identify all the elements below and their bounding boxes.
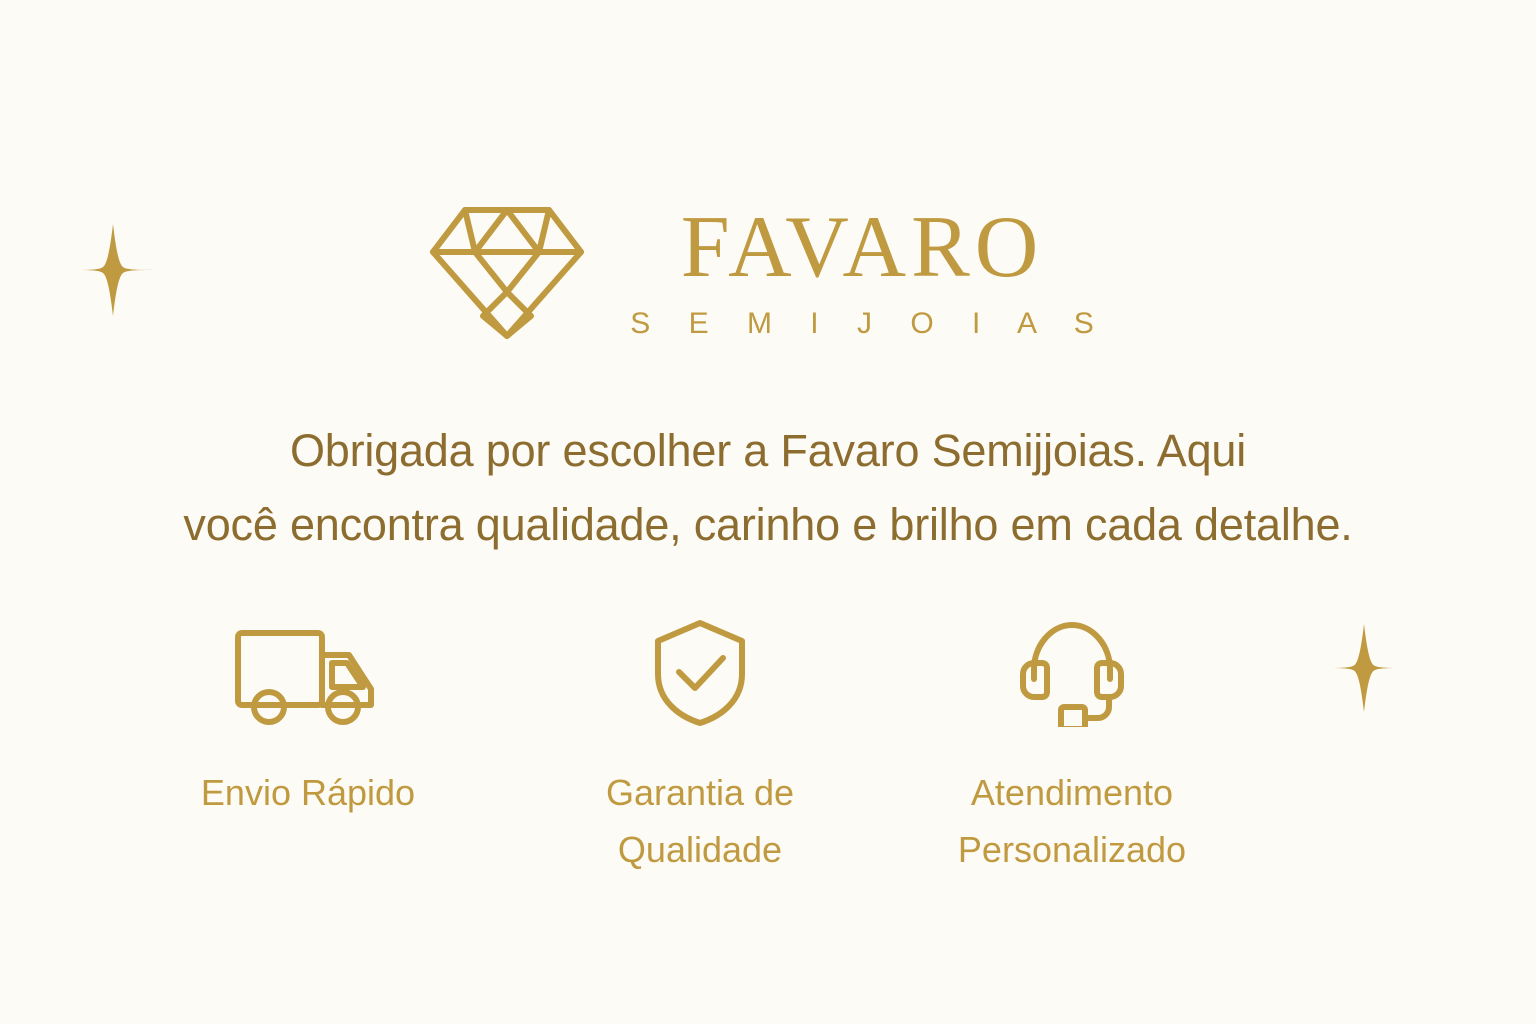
feature-label-line-1: Atendimento [971,772,1173,813]
feature-list: Envio Rápido Garantia de Qualidade [120,618,1300,878]
thank-you-message: Obrigada por escolher a Favaro Semijjoia… [0,414,1536,562]
feature-label: Atendimento Personalizado [958,764,1186,878]
feature-label-line-2: Personalizado [958,829,1186,870]
logo-row: FAVARO S E M I J O I A S [427,196,1108,348]
wordmark-stack: FAVARO S E M I J O I A S [615,203,1108,342]
headset-support-icon [1019,619,1125,727]
feature-garantia-qualidade: Garantia de Qualidade [530,618,870,878]
sparkle-icon [1316,620,1412,716]
promo-card: FAVARO S E M I J O I A S Obrigada por es… [0,0,1536,1024]
brand-subtitle: S E M I J O I A S [630,307,1108,341]
diamond-icon [427,196,587,348]
feature-icon-wrap [1019,618,1125,728]
brand-logo: FAVARO S E M I J O I A S [0,196,1536,348]
shield-check-icon [650,618,750,728]
feature-icon-wrap [650,618,750,728]
message-line-1: Obrigada por escolher a Favaro Semijjoia… [0,414,1536,488]
feature-icon-wrap [233,618,383,728]
feature-label-line-1: Garantia de [606,772,794,813]
delivery-truck-icon [233,621,383,725]
message-line-2: você encontra qualidade, carinho e brilh… [0,488,1536,562]
feature-atendimento-personalizado: Atendimento Personalizado [902,618,1242,878]
feature-label: Envio Rápido [201,764,415,821]
feature-label-line-2: Qualidade [618,829,782,870]
feature-envio-rapido: Envio Rápido [138,618,478,821]
feature-label: Garantia de Qualidade [606,764,794,878]
brand-name: FAVARO [681,207,1044,290]
